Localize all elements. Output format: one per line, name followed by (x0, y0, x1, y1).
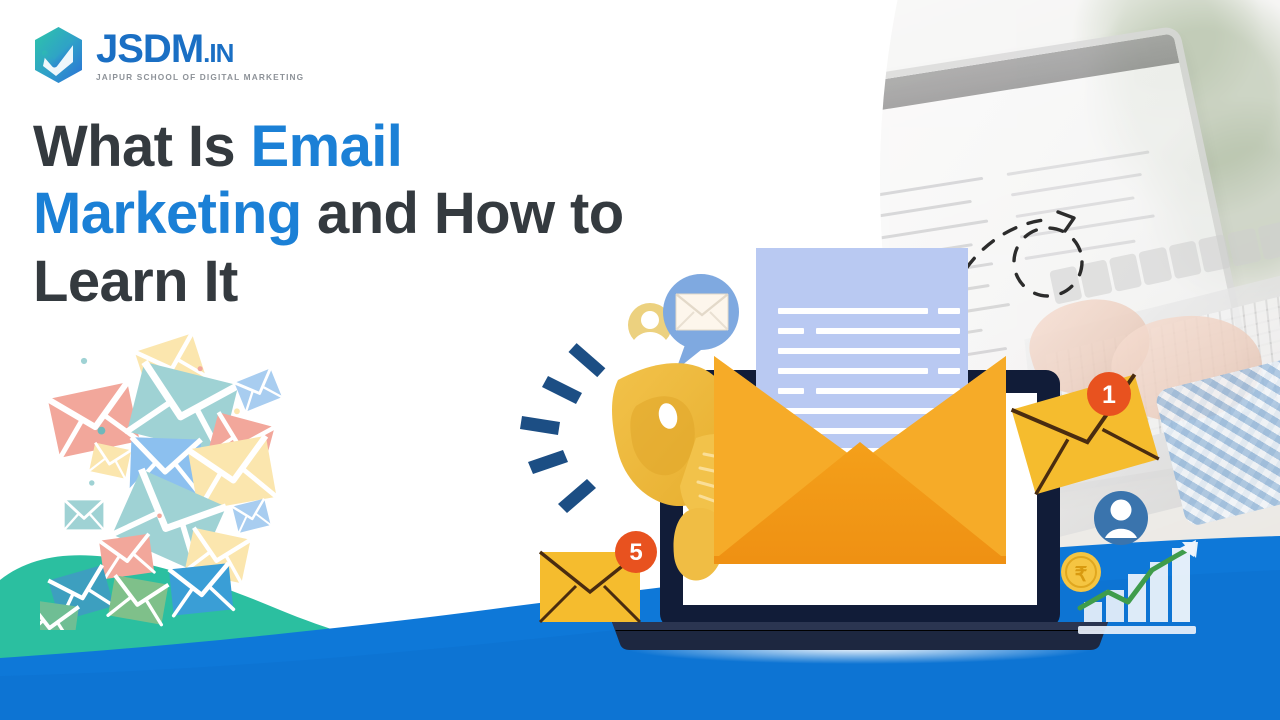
envelope-icon (169, 563, 234, 615)
envelope-icon (234, 368, 281, 411)
headline-highlight-2: Marketing (33, 181, 302, 246)
envelope-base (714, 556, 1006, 564)
envelope-icon (99, 534, 154, 579)
envelope-icon (108, 575, 168, 624)
megaphone-sound-rays (520, 340, 606, 513)
logo-wordmark: JSDM.IN JAIPUR SCHOOL OF DIGITAL MARKETI… (96, 29, 304, 82)
decor-dot (157, 513, 162, 518)
headline-part-1: What Is (33, 114, 251, 179)
decor-dot (89, 480, 94, 485)
brand-logo[interactable]: JSDM.IN JAIPUR SCHOOL OF DIGITAL MARKETI… (32, 26, 304, 84)
decor-dot (81, 358, 87, 364)
headline-highlight-1: Email (251, 114, 403, 179)
page-title: What Is Email Marketing and How to Learn… (33, 113, 673, 315)
envelope-icon (89, 443, 131, 479)
logo-name: JSDM.IN (96, 29, 304, 69)
logo-tagline: JAIPUR SCHOOL OF DIGITAL MARKETING (96, 72, 304, 82)
rupee-coin-icon: ₹ (1061, 552, 1101, 592)
envelope-icon (232, 499, 270, 533)
decor-dot (198, 366, 203, 371)
decor-dot (98, 427, 106, 435)
envelope-cluster (40, 330, 370, 630)
envelope-badge-left: 5 (540, 531, 657, 622)
envelope-icon (65, 500, 104, 529)
user-avatar-icon-blue (1094, 491, 1148, 545)
growth-bar-chart-icon (1078, 540, 1198, 634)
envelope-icon (48, 382, 140, 458)
speech-bubble-mail-icon (663, 274, 739, 370)
svg-text:5: 5 (629, 539, 642, 566)
svg-text:1: 1 (1102, 381, 1116, 409)
svg-text:₹: ₹ (1075, 564, 1088, 586)
hexagon-check-logo-icon (32, 26, 85, 84)
decor-dot (234, 408, 240, 414)
banner-canvas: JSDM.IN JAIPUR SCHOOL OF DIGITAL MARKETI… (0, 0, 1280, 720)
